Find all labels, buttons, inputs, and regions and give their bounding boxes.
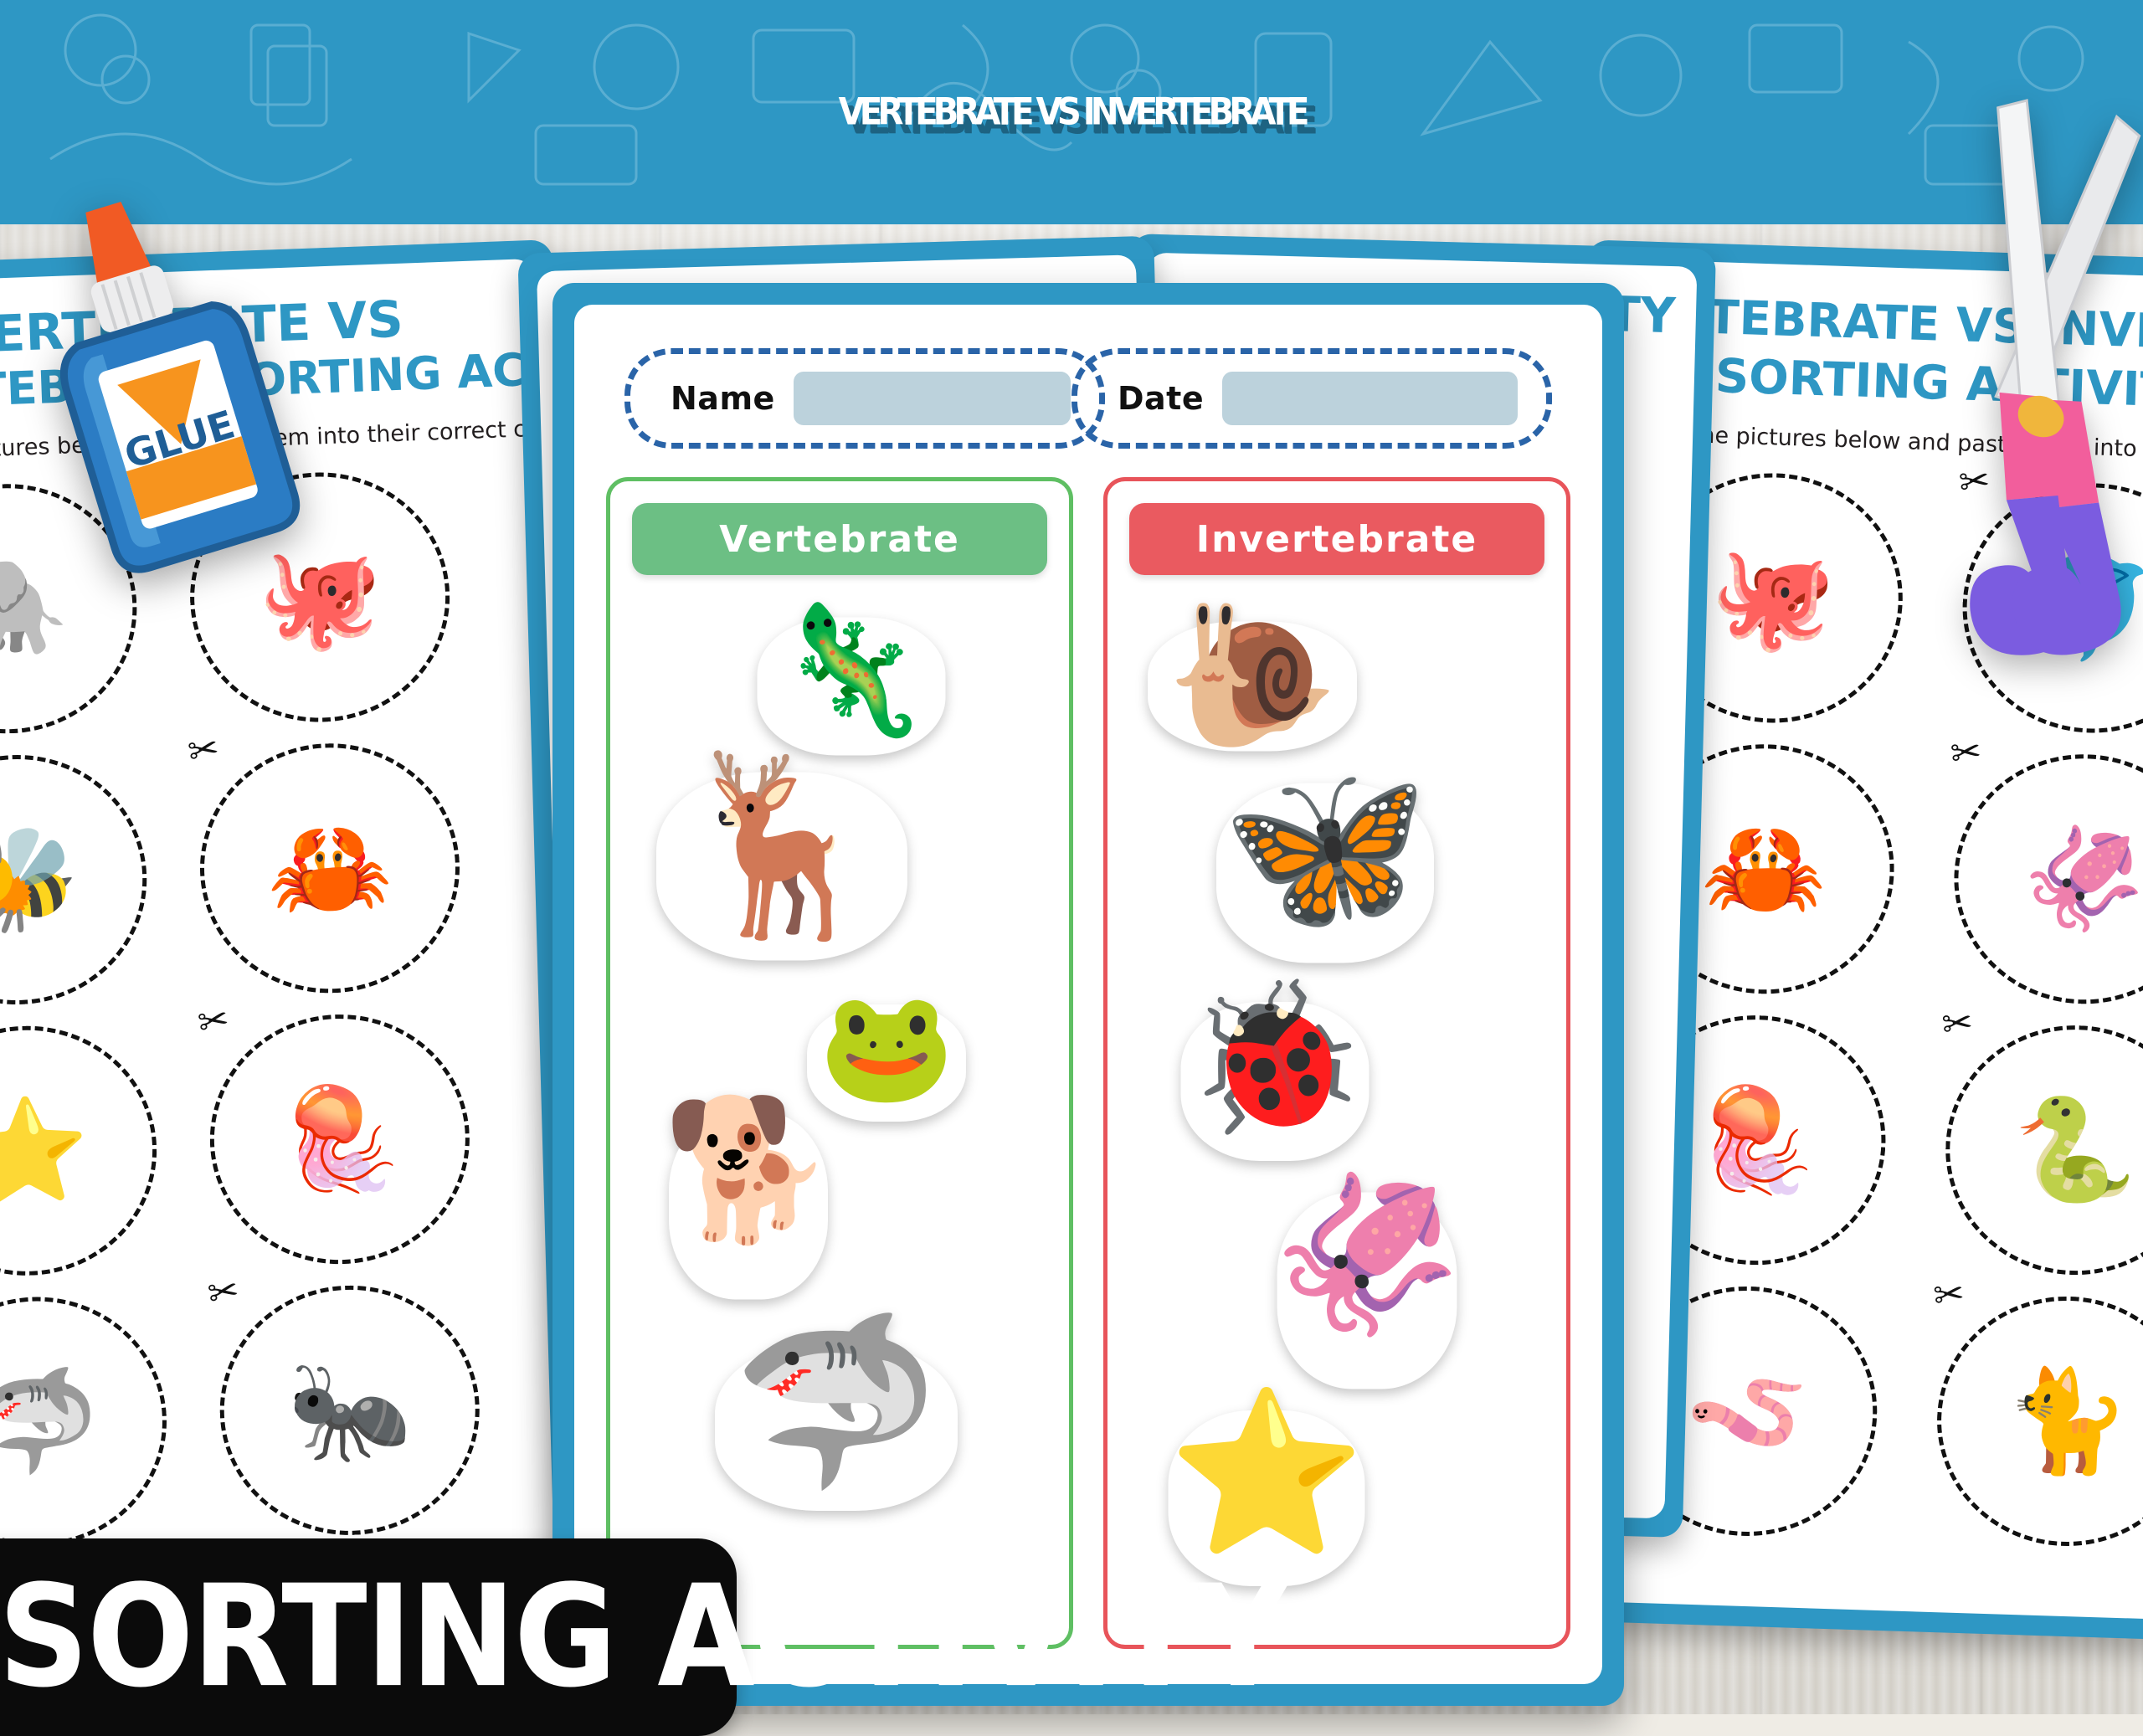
cut-circle-bee[interactable]: ✂ 🐝	[0, 750, 152, 1009]
sticker-ladybug[interactable]: 🐞	[1166, 985, 1384, 1178]
column-invertebrate[interactable]: Invertebrate 🐌 🦋 🐞 🦑 ⭐	[1103, 477, 1570, 1649]
sorting-activity-label: SORTING ACTIVITY	[0, 1567, 1286, 1708]
piece-art: 🐝	[0, 827, 81, 932]
scissors-icon: ✂	[205, 1271, 242, 1313]
sticker-blue-butterfly[interactable]: 🦋	[1200, 764, 1451, 982]
cut-circle-snake[interactable]: ✂ 🐍	[1942, 1021, 2143, 1279]
name-label: Name	[671, 380, 775, 417]
date-input[interactable]	[1222, 372, 1518, 425]
cut-circle-jellyfish[interactable]: ✂ 🪼	[206, 1010, 475, 1269]
scissors-icon: ✂	[185, 730, 222, 772]
sticker-deer-fawn[interactable]: 🦌	[644, 758, 920, 975]
piece-art: 🪼	[275, 1086, 404, 1191]
piece-art: 🐈	[2003, 1369, 2131, 1474]
sticker-labrador-puppy[interactable]: 🐕	[652, 1101, 845, 1310]
cut-circle-starfish[interactable]: ✂ ⭐	[0, 1021, 161, 1280]
cut-circle-cat[interactable]: ✂ 🐈	[1933, 1292, 2143, 1550]
scissors-icon: ✂	[1931, 1276, 1966, 1316]
column-header-vertebrate: Vertebrate	[632, 503, 1047, 575]
name-date-row: Name Date	[624, 348, 1552, 440]
date-label: Date	[1118, 380, 1204, 417]
worksheet-main-paper: Name Date Vertebrate 🦎 🦌	[574, 305, 1602, 1684]
glue-bottle-icon: GLUE	[12, 191, 313, 576]
piece-art: 🐜	[285, 1358, 414, 1462]
date-field-group[interactable]: Date	[1071, 348, 1552, 449]
scissors-icon: ✂	[195, 1001, 232, 1043]
piece-art: 🪱	[1683, 1359, 1812, 1464]
piece-art: ⭐	[0, 1098, 91, 1203]
cut-circle-ant[interactable]: ✂ 🐜	[215, 1281, 484, 1539]
scissors-icon: ✂	[1949, 733, 1983, 773]
name-input[interactable]	[794, 372, 1071, 425]
column-header-label: Invertebrate	[1196, 518, 1478, 561]
sticker-snail[interactable]: 🐌	[1139, 607, 1365, 766]
piece-art: 🪼	[1692, 1088, 1820, 1193]
piece-art: 🦈	[0, 1369, 101, 1474]
column-vertebrate[interactable]: Vertebrate 🦎 🦌 🐸 🐕 🦈	[606, 477, 1073, 1649]
worksheet-page-main[interactable]: Name Date Vertebrate 🦎 🦌	[552, 283, 1624, 1706]
cut-circle-squid[interactable]: ✂ 🦑	[1950, 750, 2143, 1008]
sticker-squid[interactable]: 🦑	[1258, 1178, 1476, 1404]
piece-art: 🦀	[265, 816, 394, 921]
cut-circle-crab[interactable]: ✂ 🦀	[196, 739, 465, 998]
scissors-icon: ✂	[1940, 1004, 1975, 1045]
sticker-chameleon[interactable]: 🦎	[751, 607, 952, 766]
sorting-activity-tag: SORTING ACTIVITY	[0, 1538, 737, 1736]
scissors-icon	[1791, 92, 2143, 661]
piece-art: 🦑	[2020, 827, 2143, 932]
cut-circle-shark[interactable]: ✂ 🦈	[0, 1292, 171, 1551]
column-header-label: Vertebrate	[719, 518, 960, 561]
piece-art: 🦀	[1700, 817, 1828, 922]
name-field-group[interactable]: Name	[624, 348, 1105, 449]
sticker-shark[interactable]: 🦈	[702, 1318, 970, 1536]
piece-art: 🐍	[2012, 1098, 2140, 1203]
column-header-invertebrate: Invertebrate	[1129, 503, 1544, 575]
